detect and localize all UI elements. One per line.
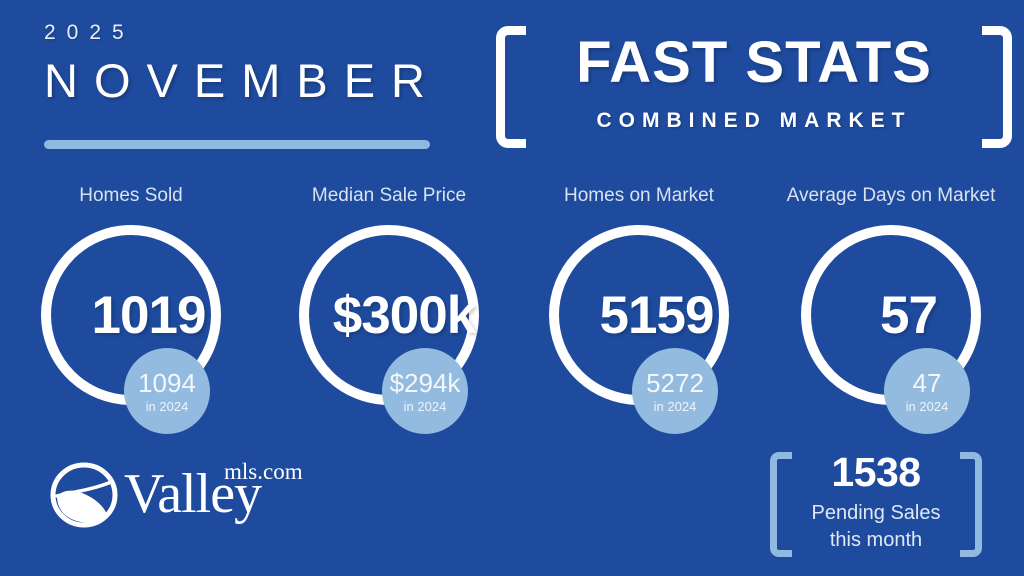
fast-stats-badge: FAST STATS COMBINED MARKET xyxy=(496,26,1012,148)
pending-right-bracket-icon xyxy=(960,452,982,557)
stat-prior-year: in 2024 xyxy=(404,400,447,413)
stat-prior-year: in 2024 xyxy=(146,400,189,413)
pending-sales-caption: Pending Sales this month xyxy=(790,500,962,554)
stat-card-homes-sold: Homes Sold 1019 1094 in 2024 xyxy=(6,186,256,436)
stat-prior-year: in 2024 xyxy=(654,400,697,413)
logo-tld: mls.com xyxy=(224,460,303,483)
valley-mls-logo: Valley mls.com xyxy=(48,458,288,530)
pending-left-bracket-icon xyxy=(770,452,792,557)
stat-prior-value: 47 xyxy=(913,370,942,396)
header-divider-bar xyxy=(44,140,430,149)
pending-caption-line-1: Pending Sales xyxy=(790,500,962,527)
year-label: 2025 xyxy=(44,22,474,43)
stat-prior-year-bubble: $294k in 2024 xyxy=(382,348,468,434)
stat-prior-year-bubble: 5272 in 2024 xyxy=(632,348,718,434)
stat-label: Median Sale Price xyxy=(264,186,514,205)
stat-label: Homes Sold xyxy=(6,186,256,205)
left-bracket-icon xyxy=(496,26,526,148)
stat-label: Average Days on Market xyxy=(766,186,1016,205)
valley-globe-icon xyxy=(48,462,120,528)
stat-prior-year-bubble: 47 in 2024 xyxy=(884,348,970,434)
pending-caption-line-2: this month xyxy=(790,527,962,554)
month-label: NOVEMBER xyxy=(44,57,474,104)
stat-card-average-days-on-market: Average Days on Market 57 47 in 2024 xyxy=(766,186,1016,436)
stat-label: Homes on Market xyxy=(514,186,764,205)
stat-prior-year: in 2024 xyxy=(906,400,949,413)
stat-prior-value: 1094 xyxy=(138,370,196,396)
fast-stats-subtitle: COMBINED MARKET xyxy=(538,110,970,131)
stat-card-median-sale-price: Median Sale Price $300k $294k in 2024 xyxy=(264,186,514,436)
fast-stats-title: FAST STATS xyxy=(538,31,970,96)
stat-prior-year-bubble: 1094 in 2024 xyxy=(124,348,210,434)
pending-sales-block: 1538 Pending Sales this month xyxy=(770,452,982,557)
stat-prior-value: $294k xyxy=(390,370,461,396)
stat-card-homes-on-market: Homes on Market 5159 5272 in 2024 xyxy=(514,186,764,436)
fast-stats-infographic: 2025 NOVEMBER FAST STATS COMBINED MARKET… xyxy=(0,0,1024,576)
stat-prior-value: 5272 xyxy=(646,370,704,396)
pending-sales-value: 1538 xyxy=(796,452,956,493)
right-bracket-icon xyxy=(982,26,1012,148)
header-date-block: 2025 NOVEMBER xyxy=(44,22,474,104)
